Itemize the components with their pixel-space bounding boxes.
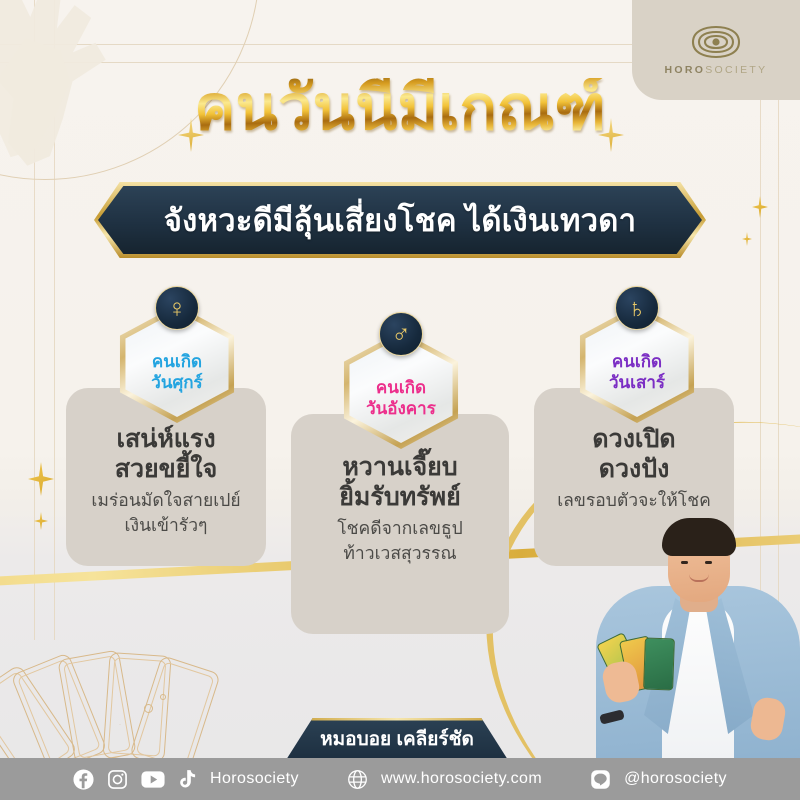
venus-symbol-icon: ♀ [155, 286, 199, 330]
presenter-name: หมอบอย เคลียร์ชัด [320, 724, 474, 754]
sparkle-star-icon [598, 118, 624, 152]
line-handle: @horosociety [624, 770, 727, 788]
facebook-icon[interactable] [73, 769, 94, 790]
card-title: หวานเจี๊ยบ ยิ้มรับทรัพย์ [301, 452, 499, 512]
sparkle-star-icon [28, 462, 54, 496]
card-title: ดวงเปิด ดวงปัง [544, 424, 724, 484]
day-card-friday-body: เสน่ห์แรง สวยขยี้ใจ เมร่อนมัดใจสายเปย์ เ… [66, 424, 266, 538]
presenter-photo [588, 500, 800, 762]
badge-label: คนเกิด วันอังคาร [366, 378, 436, 419]
footer-social-bar: Horosociety www.horosociety.com @horosoc… [0, 758, 800, 800]
tiktok-icon[interactable] [178, 769, 197, 790]
card-title: เสน่ห์แรง สวยขยี้ใจ [76, 424, 256, 484]
saturn-symbol-icon: ♄ [615, 286, 659, 330]
instagram-icon[interactable] [107, 769, 128, 790]
sparkle-star-icon [752, 196, 768, 218]
card-subtitle: เมร่อนมัดใจสายเปย์ เงินเข้ารัวๆ [76, 488, 256, 538]
social-handle: Horosociety [210, 770, 299, 788]
horosociety-eye-logo-icon [690, 25, 742, 59]
globe-icon[interactable] [347, 769, 368, 790]
line-icon[interactable] [590, 769, 611, 790]
banner-text: จังหวะดีมีลุ้นเสี่ยงโชค ได้เงินเทวดา [164, 195, 636, 245]
day-badge-friday[interactable]: คนเกิด วันศุกร์ ♀ [113, 300, 245, 432]
poster-canvas: HOROSOCIETY คนวันนี้มีเกณฑ์ จังหวะดีมีลุ… [0, 0, 800, 800]
badge-label: คนเกิด วันเสาร์ [609, 352, 665, 393]
youtube-icon[interactable] [141, 769, 165, 790]
brand-logo-text: HOROSOCIETY [665, 64, 768, 76]
tarot-card [643, 637, 675, 690]
badge-label: คนเกิด วันศุกร์ [151, 352, 202, 393]
website-url[interactable]: www.horosociety.com [381, 770, 542, 788]
day-badge-tuesday[interactable]: คนเกิด วันอังคาร ♂ [337, 326, 469, 458]
mars-symbol-icon: ♂ [379, 312, 423, 356]
headline-block: คนวันนี้มีเกณฑ์ [0, 78, 800, 140]
page-title: คนวันนี้มีเกณฑ์ [188, 78, 612, 140]
presenter-name-tab: หมอบอย เคลียร์ชัด [286, 718, 508, 760]
day-badge-saturday[interactable]: คนเกิด วันเสาร์ ♄ [573, 300, 705, 432]
sparkle-star-icon [742, 232, 752, 246]
card-subtitle: โชคดีจากเลขธูป ท้าวเวสสุวรรณ [301, 516, 499, 566]
sparkle-star-icon [34, 512, 48, 530]
day-card-tuesday-body: หวานเจี๊ยบ ยิ้มรับทรัพย์ โชคดีจากเลขธูป … [291, 452, 509, 566]
subtitle-banner: จังหวะดีมีลุ้นเสี่ยงโชค ได้เงินเทวดา [98, 186, 702, 254]
